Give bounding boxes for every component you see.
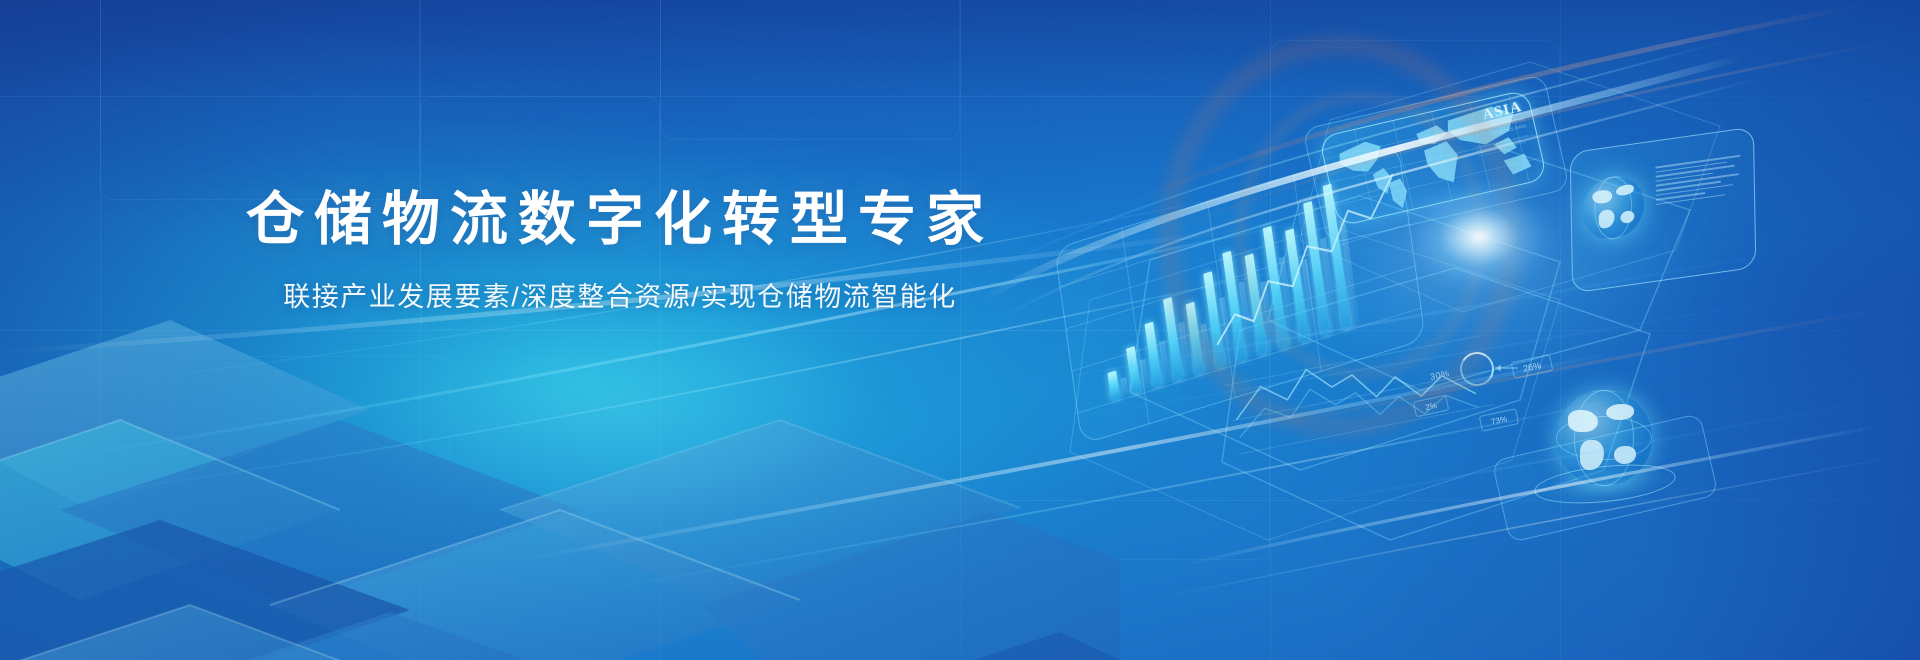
page-subtitle: 联接产业发展要素/深度整合资源/实现仓储物流智能化 (0, 280, 1240, 315)
hero-copy: 仓储物流数字化转型专家 联接产业发展要素/深度整合资源/实现仓储物流智能化 (0, 186, 1240, 316)
page-title: 仓储物流数字化转型专家 (0, 186, 1240, 254)
light-streaks (0, 0, 1920, 660)
hero-banner: ASIA GLOBAL NETWORK LOGISTICS DATA (0, 0, 1920, 660)
